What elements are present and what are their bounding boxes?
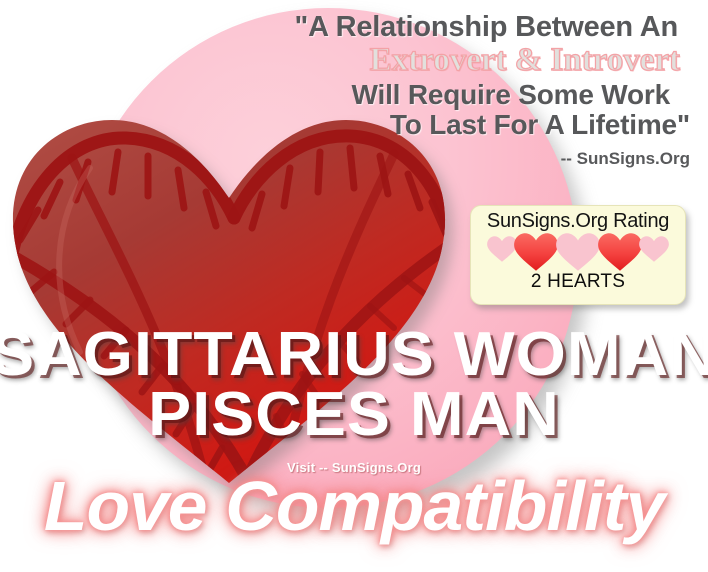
title-line-man: PISCES MAN — [0, 386, 708, 444]
quote-attribution: -- SunSigns.Org — [214, 149, 694, 169]
rating-badge: SunSigns.Org Rating 2 HEARTS — [470, 205, 686, 305]
rating-hearts-row — [471, 234, 685, 270]
title-line-woman: SAGITTARIUS WOMAN — [0, 326, 708, 384]
quote-line-4: To Last For A Lifetime" — [214, 110, 694, 140]
love-compatibility-script: Love Compatibility — [0, 466, 708, 546]
love-compatibility-text: Love Compatibility — [44, 466, 664, 546]
quote-line-2-emphasis: Extrovert & Introvert — [214, 44, 694, 78]
quote-line-1: "A Relationship Between An — [214, 12, 694, 43]
sign-pair-title: SAGITTARIUS WOMAN PISCES MAN — [0, 326, 708, 445]
quote-line-3: Will Require Some Work — [214, 80, 694, 110]
rating-value: 2 HEARTS — [471, 271, 685, 293]
love-compatibility-graphic: "A Relationship Between An Extrovert & I… — [0, 0, 708, 572]
quote-block: "A Relationship Between An Extrovert & I… — [214, 12, 694, 169]
rating-heart-5-empty — [637, 234, 671, 264]
